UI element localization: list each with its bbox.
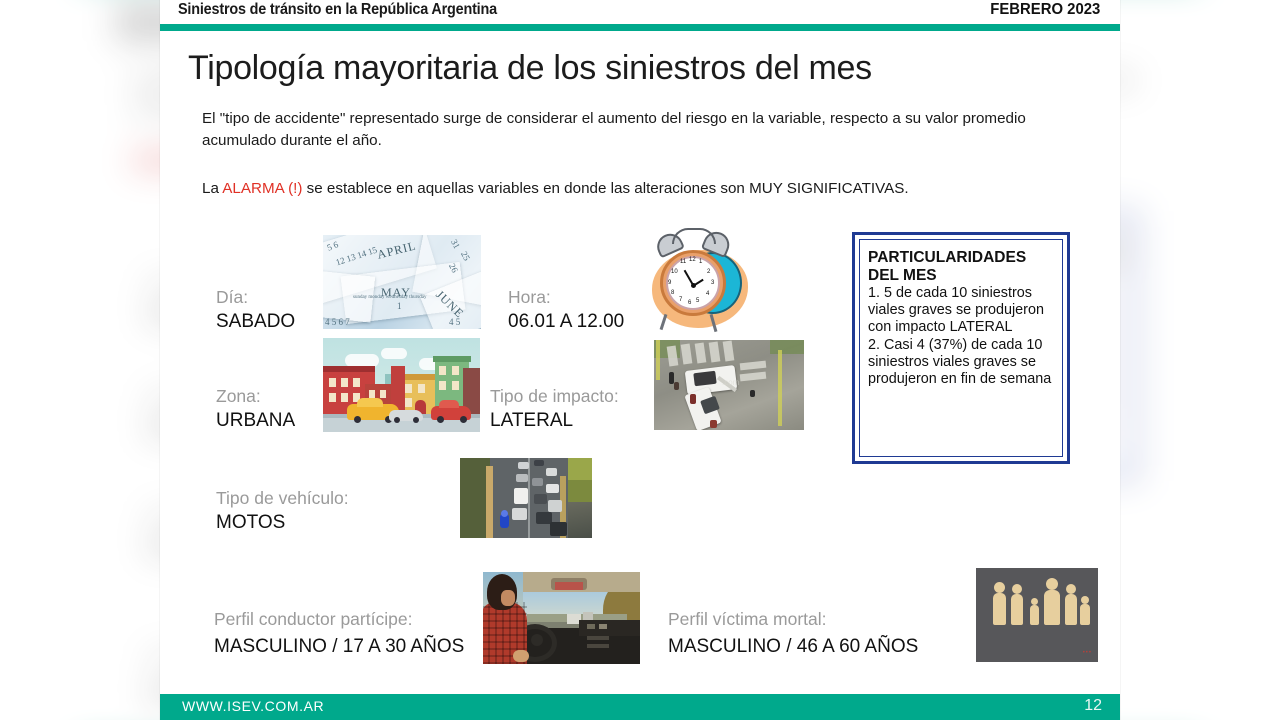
impacto-label: Tipo de impacto:	[490, 386, 619, 407]
intro-paragraph: El "tipo de accidente" representado surg…	[202, 108, 1082, 152]
calendar-photo: APRIL MAY JUNE 5 6 12 13 14 15 31 25 26 …	[323, 235, 481, 329]
header-rule	[160, 24, 1120, 31]
driver-photo	[483, 572, 640, 664]
people-pictogram-photo: •••	[976, 568, 1098, 662]
particularidades-title: PARTICULARIDADES DEL MES	[868, 249, 1054, 284]
crash-aerial-photo: .com	[654, 340, 804, 430]
zona-value: URBANA	[216, 410, 295, 432]
header-date: FEBRERO 2023	[990, 1, 1100, 19]
city-street-illustration	[323, 338, 480, 432]
victima-value: MASCULINO / 46 A 60 AÑOS	[668, 636, 918, 658]
slide-header: Siniestros de tránsito en la República A…	[160, 0, 1120, 30]
alarm-suffix: se establece en aquellas variables en do…	[302, 180, 908, 197]
vehiculo-label: Tipo de vehículo:	[216, 488, 349, 509]
header-title: Siniestros de tránsito en la República A…	[178, 1, 497, 19]
dia-label: Día:	[216, 287, 248, 308]
particularidades-item-2: 2. Casi 4 (37%) de cada 10 siniestros vi…	[868, 337, 1054, 388]
alarm-keyword: ALARMA (!)	[222, 180, 302, 197]
dia-value: SABADO	[216, 311, 295, 333]
alarm-prefix: La	[202, 180, 222, 197]
alarm-clock-image: 12 2 3 4 5 6 7 8 9 10 11 1	[638, 228, 766, 340]
vehiculo-value: MOTOS	[216, 512, 285, 534]
victima-label: Perfil víctima mortal:	[668, 609, 827, 630]
presentation-viewer: Siniestros de tránsito en la República A…	[0, 0, 1280, 720]
hora-label: Hora:	[508, 287, 551, 308]
hora-value: 06.01 A 12.00	[508, 311, 624, 333]
impacto-value: LATERAL	[490, 410, 573, 432]
zona-label: Zona:	[216, 386, 261, 407]
slide-footer: WWW.ISEV.COM.AR 12	[160, 694, 1120, 720]
particularidades-box: PARTICULARIDADES DEL MES 1. 5 de cada 10…	[852, 232, 1070, 464]
slide: Siniestros de tránsito en la República A…	[160, 0, 1120, 720]
conductor-value: MASCULINO / 17 A 30 AÑOS	[214, 636, 464, 658]
page-number: 12	[1084, 697, 1102, 715]
particularidades-item-1: 1. 5 de cada 10 siniestros viales graves…	[868, 285, 1054, 336]
alarm-paragraph: La ALARMA (!) se establece en aquellas v…	[202, 178, 1082, 200]
page-title: Tipología mayoritaria de los siniestros …	[188, 49, 872, 88]
traffic-highway-photo	[460, 458, 592, 538]
conductor-label: Perfil conductor partícipe:	[214, 609, 412, 630]
footer-url[interactable]: WWW.ISEV.COM.AR	[182, 698, 324, 714]
